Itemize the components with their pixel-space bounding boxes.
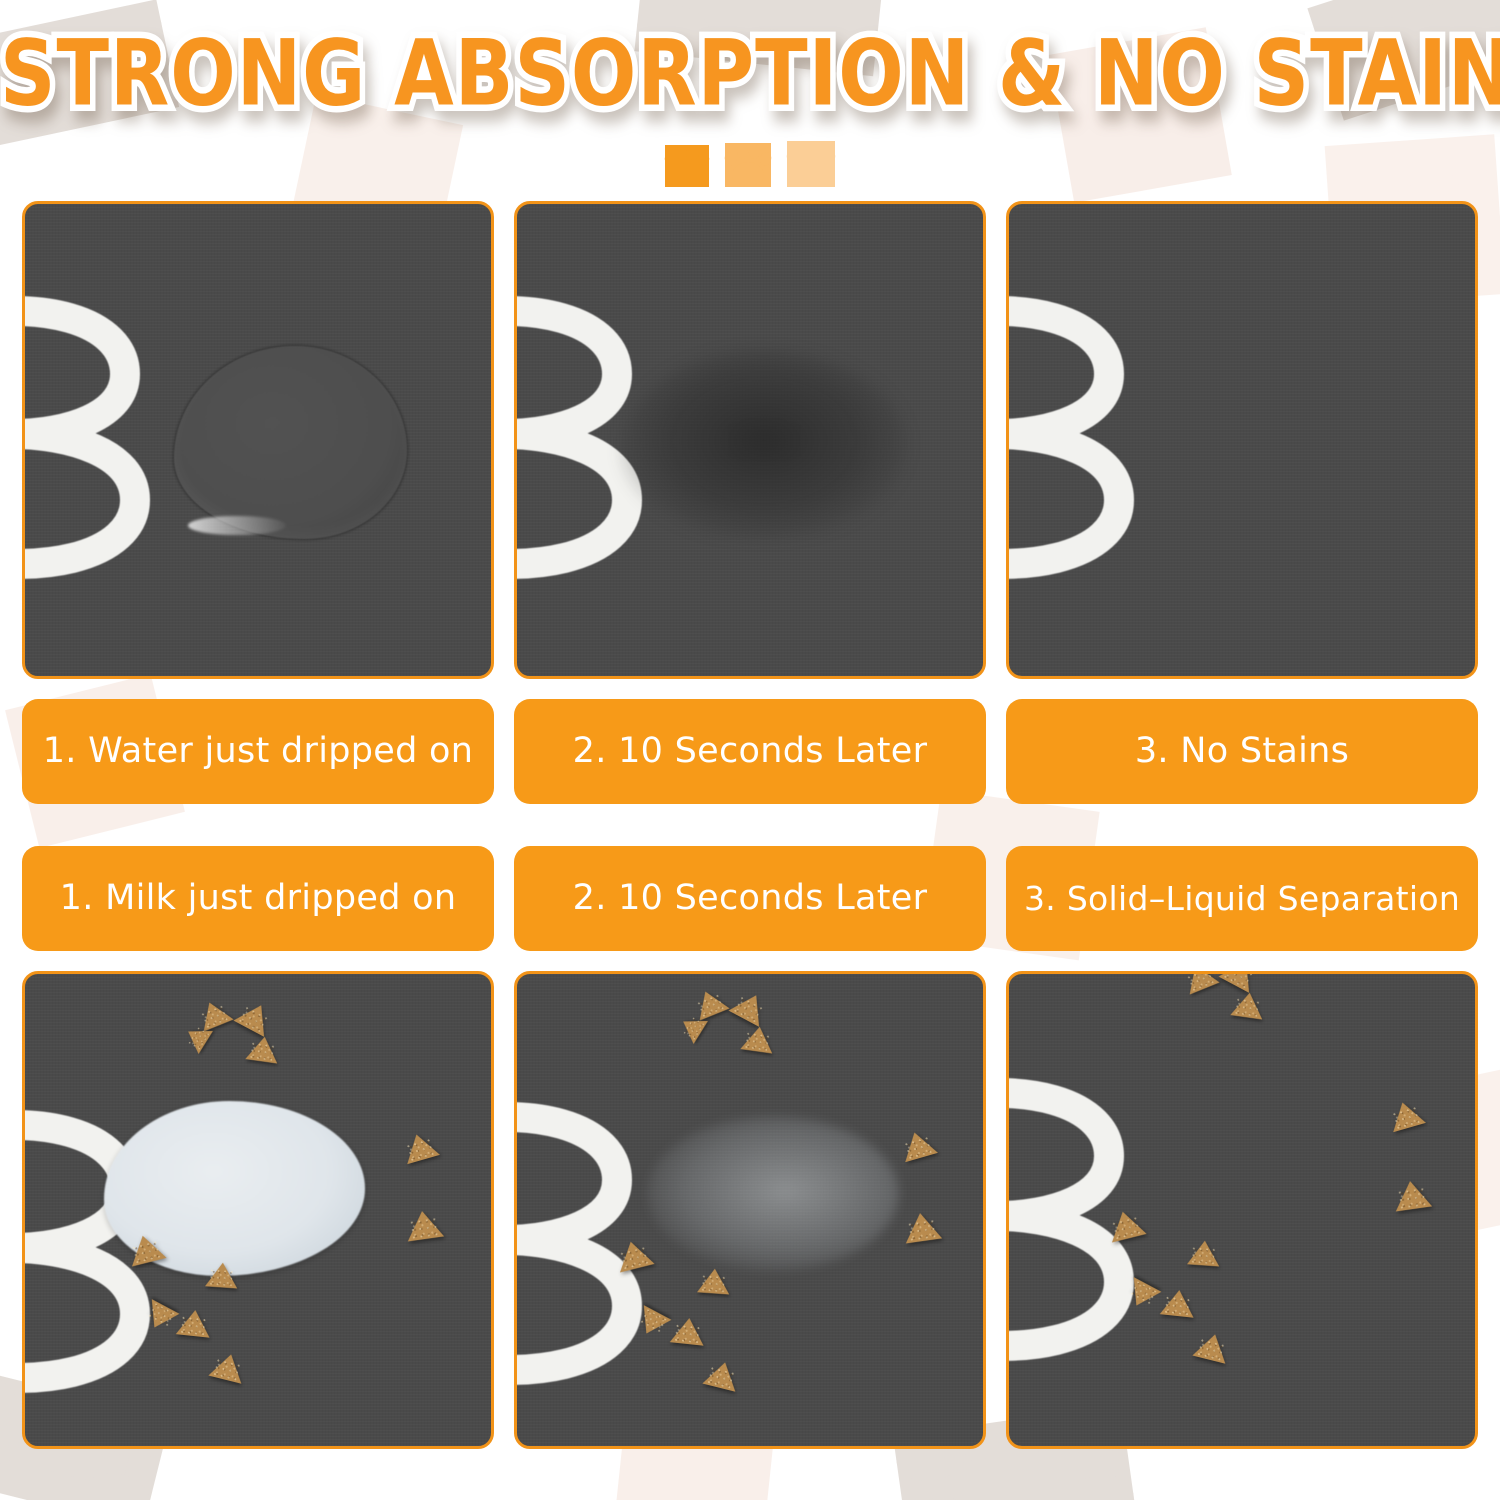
paw-print-icon — [725, 143, 771, 187]
label-text: 2. 10 Seconds Later — [573, 881, 928, 916]
milk-step-1-cell: 1. Milk just dripped on — [22, 846, 494, 1449]
kibble-piece — [233, 997, 276, 1037]
kibble-piece — [1180, 971, 1219, 995]
water-step-3-cell: 3. No Stains — [1006, 201, 1478, 804]
milk-step-1-label: 1. Milk just dripped on — [22, 846, 494, 951]
milk-test-row: 1. Milk just dripped on — [22, 846, 1478, 1449]
paw-print-icon — [787, 141, 835, 187]
kibble-piece — [702, 1358, 741, 1391]
water-just-dripped-photo — [22, 201, 494, 679]
kibble-piece — [1187, 1240, 1221, 1267]
paw-divider — [0, 141, 1500, 187]
water-test-row: 1. Water just dripped on 2. 10 Seconds L… — [22, 201, 1478, 804]
mat-logo-icon — [1006, 288, 1181, 580]
kibble-piece — [1192, 1330, 1231, 1363]
absorbed-damp-patch-stain — [620, 350, 909, 539]
kibble-piece — [176, 1308, 213, 1337]
water-ten-seconds-later-photo — [514, 201, 986, 679]
kibble-piece — [697, 1268, 731, 1295]
kibble-piece — [740, 1025, 775, 1054]
label-text: 2. 10 Seconds Later — [573, 734, 928, 769]
kibble-piece — [670, 1316, 707, 1345]
water-step-1-label: 1. Water just dripped on — [22, 699, 494, 804]
water-step-3-label: 3. No Stains — [1006, 699, 1478, 804]
kibble-piece — [902, 1211, 942, 1244]
water-step-2-label: 2. 10 Seconds Later — [514, 699, 986, 804]
water-no-stains-photo — [1006, 201, 1478, 679]
kibble-piece — [1386, 1098, 1426, 1132]
water-step-2-cell: 2. 10 Seconds Later — [514, 201, 986, 804]
mat-logo-icon — [514, 1094, 689, 1386]
header: STRONG ABSORPTION & NO STAINS — [0, 0, 1500, 111]
milk-step-2-label: 2. 10 Seconds Later — [514, 846, 986, 951]
kibble-piece — [1230, 991, 1265, 1020]
kibble-piece — [205, 1262, 239, 1289]
kibble-piece — [404, 1209, 444, 1242]
milk-step-3-label: 3. Solid–Liquid Separation — [1006, 846, 1478, 951]
kibble-piece — [728, 987, 771, 1027]
kibble-piece — [1160, 1288, 1197, 1317]
kibble-piece — [208, 1350, 247, 1383]
water-step-1-cell: 1. Water just dripped on — [22, 201, 494, 804]
kibble-piece — [245, 1035, 280, 1064]
paw-print-icon — [665, 145, 709, 187]
comparison-grid: 1. Water just dripped on 2. 10 Seconds L… — [0, 201, 1500, 1449]
mat-logo-icon — [22, 288, 197, 580]
row-spacer — [22, 804, 1478, 846]
milk-solid-liquid-separation-photo — [1006, 971, 1478, 1449]
milk-residue-stain — [647, 1116, 899, 1272]
kibble-piece — [1218, 971, 1261, 993]
water-puddle-stain — [174, 346, 407, 540]
milk-just-dripped-photo — [22, 971, 494, 1449]
milk-step-3-cell: 3. Solid–Liquid Separation — [1006, 846, 1478, 1449]
mat-logo-icon — [1006, 1070, 1181, 1362]
kibble-piece — [1392, 1179, 1432, 1212]
kibble-piece — [400, 1130, 440, 1164]
label-text: 1. Milk just dripped on — [60, 881, 457, 916]
label-text: 1. Water just dripped on — [43, 734, 474, 769]
label-text: 3. Solid–Liquid Separation — [1024, 882, 1460, 915]
milk-step-2-cell: 2. 10 Seconds Later — [514, 846, 986, 1449]
page-title: STRONG ABSORPTION & NO STAINS — [0, 22, 1500, 127]
label-text: 3. No Stains — [1135, 734, 1349, 769]
milk-ten-seconds-later-photo — [514, 971, 986, 1449]
kibble-piece — [898, 1128, 938, 1162]
